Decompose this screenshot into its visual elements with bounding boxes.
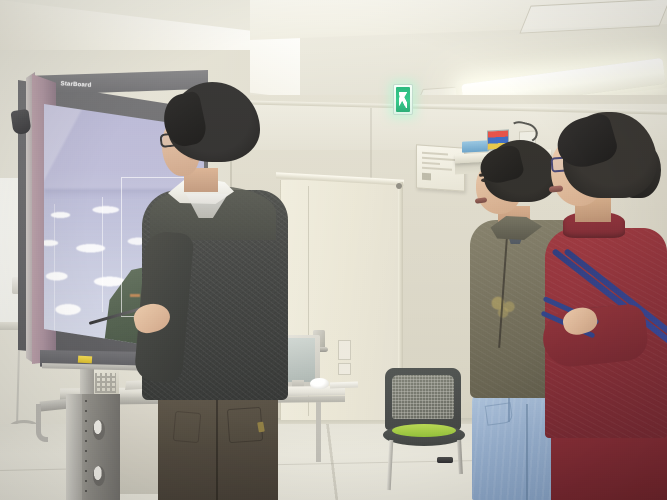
- jacket-chest-print: [487, 290, 524, 319]
- display-warning-sticker: [78, 356, 92, 364]
- screen-overlay-line: [102, 197, 103, 312]
- chair-seat-cushion: [392, 424, 456, 437]
- notice-line: [422, 162, 440, 165]
- wall-socket: [338, 363, 351, 375]
- person-viewer-maroon: [545, 112, 667, 500]
- exit-sign-pane: [396, 87, 410, 112]
- classroom-photo: StarBoard: [0, 0, 667, 500]
- wall-socket: [338, 340, 351, 360]
- trousers-seam: [216, 400, 218, 500]
- emergency-exit-sign: [393, 84, 413, 115]
- computer-mouse[interactable]: [310, 378, 329, 389]
- speaker-grille: [95, 373, 116, 393]
- trousers-pocket: [173, 411, 202, 443]
- display-brand-text: StarBoard: [60, 81, 91, 89]
- display-stand-perforations: [85, 400, 87, 496]
- screen-overlay-line: [54, 204, 55, 344]
- notice-line: [422, 167, 452, 171]
- paper-document: [330, 382, 358, 389]
- display-stand-column-face: [66, 394, 82, 500]
- trolley-leg: [316, 402, 321, 462]
- chair-mesh-back: [392, 375, 454, 419]
- jeans-fly-seam: [508, 398, 510, 422]
- running-person-icon: [399, 92, 407, 108]
- display-stand-hole: [93, 466, 105, 486]
- display-stand-elbow: [36, 404, 48, 442]
- notice-line: [422, 157, 456, 161]
- display-cable-clamp: [10, 109, 31, 135]
- floor-object: [437, 457, 453, 463]
- display-stand-hole: [93, 420, 105, 440]
- jeans-seam: [526, 404, 528, 500]
- notice-stamp: [422, 173, 431, 181]
- person-presenter: [140, 82, 290, 500]
- door-frame-fixing: [396, 183, 402, 189]
- notice-line: [422, 152, 448, 156]
